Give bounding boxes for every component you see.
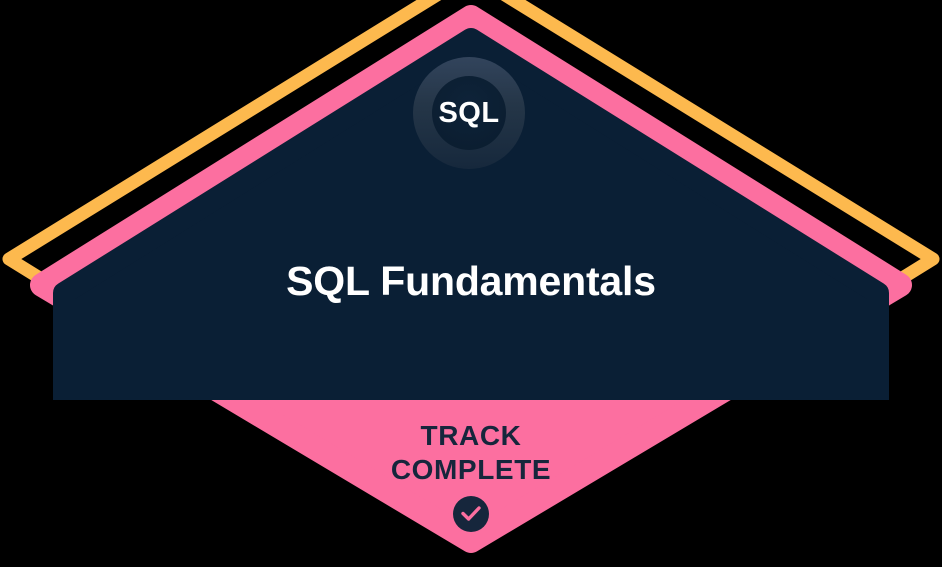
sql-emblem-label: SQL xyxy=(438,97,499,130)
track-title: SQL Fundamentals xyxy=(0,258,942,305)
sql-emblem-icon: SQL xyxy=(413,57,525,169)
achievement-badge: SQL SQL Fundamentals TRACK COMPLETE xyxy=(0,0,942,567)
